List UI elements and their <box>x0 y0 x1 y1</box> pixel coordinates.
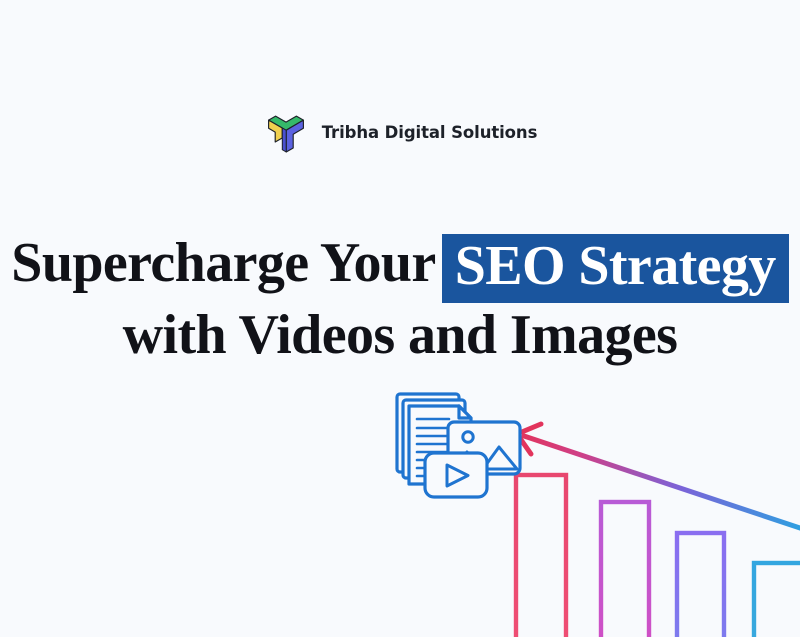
document-folded-corner-icon <box>459 406 471 418</box>
document-page-back-1-icon <box>403 400 465 478</box>
arrow-head-icon <box>517 424 541 454</box>
photo-mountain-small-icon <box>452 452 483 470</box>
bar-3 <box>677 533 724 637</box>
trend-arrow-group <box>517 424 800 530</box>
headline-highlight-seo-strategy: SEO Strategy <box>442 234 789 303</box>
headline-line-1: Supercharge YourSEO Strategy <box>0 231 800 300</box>
photo-card-icon <box>448 422 520 474</box>
brand-name: Tribha Digital Solutions <box>322 123 538 142</box>
photo-sun-icon <box>463 432 473 442</box>
media-stack-group <box>397 394 520 497</box>
headline-line-2: with Videos and Images <box>0 304 800 368</box>
photo-mountain-large-icon <box>483 447 517 469</box>
headline-prefix: Supercharge Your <box>11 232 435 294</box>
brand-lockup: Tribha Digital Solutions <box>0 108 800 156</box>
tribha-isometric-y-cube-logo-icon <box>263 108 309 156</box>
bar-1 <box>516 475 566 637</box>
document-text-lines-icon <box>417 419 463 476</box>
document-page-back-2-icon <box>397 394 459 472</box>
bar-2 <box>601 502 649 637</box>
document-page-front-icon <box>409 406 471 484</box>
descending-bar-chart-group <box>516 475 800 637</box>
video-card-icon <box>425 453 487 497</box>
video-play-button-icon <box>447 465 468 486</box>
arrow-shaft <box>524 436 800 530</box>
bar-4 <box>754 563 800 637</box>
page-title: Supercharge YourSEO Strategy with Videos… <box>0 231 800 368</box>
poster-canvas: Tribha Digital Solutions Supercharge You… <box>0 0 800 637</box>
